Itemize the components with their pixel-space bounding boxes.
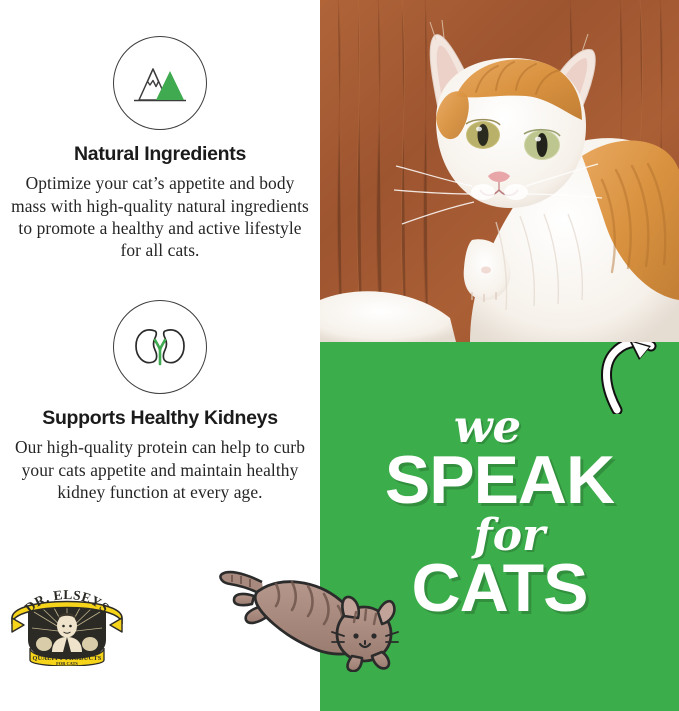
feature-body: Optimize your cat’s appetite and body ma… <box>10 172 310 261</box>
advertisement-page: Natural Ingredients Optimize your cat’s … <box>0 0 679 711</box>
kidney-icon-svg <box>131 321 189 373</box>
mountain-icon-svg <box>129 58 191 108</box>
jumping-cat-illustration <box>212 548 412 672</box>
mountain-icon <box>113 36 207 130</box>
feature-natural-ingredients: Natural Ingredients Optimize your cat’s … <box>0 36 320 262</box>
feature-title: Supports Healthy Kidneys <box>0 408 320 429</box>
slogan-line-speak: SPEAK <box>320 446 679 514</box>
cat-photo <box>320 0 679 342</box>
jumping-cat-svg <box>212 548 412 672</box>
logo-tagline-sub: FOR CATS <box>56 661 78 666</box>
feature-supports-healthy-kidneys: Supports Healthy Kidneys Our high-qualit… <box>0 300 320 503</box>
cat-photo-svg <box>320 0 679 342</box>
feature-body: Our high-quality protein can help to cur… <box>10 436 310 503</box>
dr-elseys-logo-svg: DR. ELSEYS THE ORIGINAL CAT ATTRACT & TH… <box>8 588 126 666</box>
feature-title: Natural Ingredients <box>0 144 320 165</box>
dr-elseys-logo: DR. ELSEYS THE ORIGINAL CAT ATTRACT & TH… <box>8 588 126 666</box>
kidney-icon <box>113 300 207 394</box>
